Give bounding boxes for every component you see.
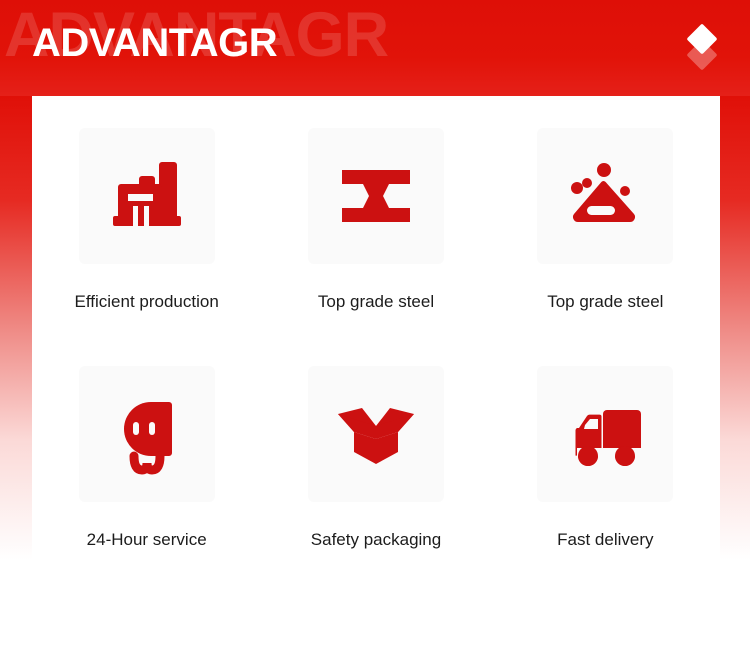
icon-tile <box>537 128 673 264</box>
advantage-label: Safety packaging <box>311 530 441 550</box>
advantage-section: ADVANTAGR ADVANTAGR <box>0 0 750 645</box>
page-title: ADVANTAGR <box>32 23 277 63</box>
advantages-grid: Efficient production Top grade steel <box>32 96 720 604</box>
icon-tile <box>308 366 444 502</box>
open-box-icon <box>330 388 422 480</box>
advantage-label: Fast delivery <box>557 530 653 550</box>
advantage-label: Efficient production <box>75 292 219 312</box>
advantage-label: Top grade steel <box>318 292 434 312</box>
advantage-item[interactable]: Top grade steel <box>491 128 720 366</box>
diamond-icon <box>682 26 722 70</box>
advantages-card: Efficient production Top grade steel <box>32 96 720 645</box>
i-beam-steel-icon <box>330 150 422 242</box>
advantage-item[interactable]: Top grade steel <box>261 128 490 366</box>
factory-icon <box>101 150 193 242</box>
material-pile-icon <box>559 150 651 242</box>
icon-tile <box>308 128 444 264</box>
icon-tile <box>537 366 673 502</box>
section-header: ADVANTAGR ADVANTAGR <box>0 0 750 96</box>
icon-tile <box>79 366 215 502</box>
advantage-label: Top grade steel <box>547 292 663 312</box>
advantage-item[interactable]: Safety packaging <box>261 366 490 604</box>
advantage-label: 24-Hour service <box>87 530 207 550</box>
delivery-truck-icon <box>559 388 651 480</box>
advantage-item[interactable]: Efficient production <box>32 128 261 366</box>
advantage-item[interactable]: Fast delivery <box>491 366 720 604</box>
icon-tile <box>79 128 215 264</box>
advantage-item[interactable]: 24-Hour service <box>32 366 261 604</box>
support-chat-icon <box>101 388 193 480</box>
